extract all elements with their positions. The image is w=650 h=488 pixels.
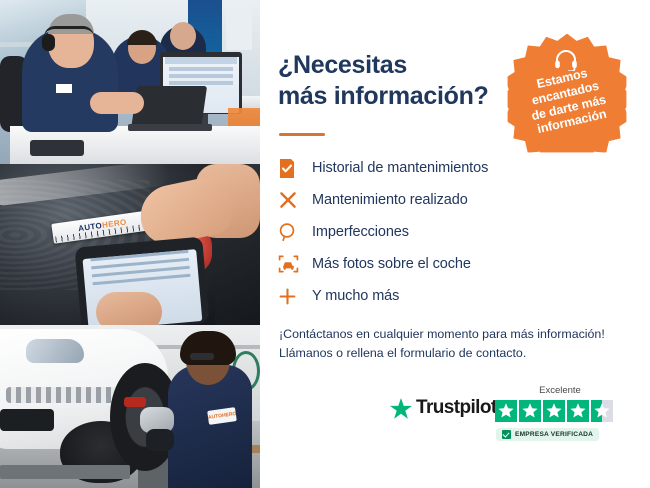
trustpilot-widget[interactable]: Trustpilot Excelente EMPRESA VERIFICADA (390, 385, 612, 447)
hand-tool (124, 397, 146, 407)
feature-item-mas: Y mucho más (278, 280, 638, 312)
star-4 (567, 400, 589, 422)
title-divider (279, 133, 325, 136)
document-check-icon (278, 158, 312, 179)
page-title-line-1: ¿Necesitas (278, 50, 528, 81)
screen-header (165, 57, 237, 64)
safety-glasses (190, 353, 214, 360)
marketing-card: AUTOHERO (0, 0, 650, 488)
star-3 (543, 400, 565, 422)
star-1 (495, 400, 517, 422)
trustpilot-rating-label: Excelente (500, 385, 620, 396)
page-title: ¿Necesitas más información? (278, 50, 528, 111)
feature-item-mantenimiento: Mantenimiento realizado (278, 184, 638, 216)
inspector-hand-2 (96, 292, 162, 325)
wrench-screwdriver-icon (278, 190, 312, 210)
feature-label: Historial de mantenimientos (312, 160, 488, 176)
page-title-line-2: más información? (278, 81, 528, 112)
trustpilot-logo: Trustpilot (390, 397, 497, 419)
feature-label: Imperfecciones (312, 224, 409, 240)
desk-tablet (30, 140, 84, 156)
lower-intake (0, 409, 54, 431)
mechanic-glove-2 (146, 429, 174, 451)
feature-item-fotos: Más fotos sobre el coche (278, 248, 638, 280)
headset-earcup (42, 34, 55, 51)
headlamp (26, 339, 84, 363)
background-person-2-head (170, 22, 196, 50)
contact-text: ¡Contáctanos en cualquier momento para m… (279, 325, 639, 363)
trustpilot-stars (495, 400, 613, 422)
agent-arm (90, 92, 144, 114)
verified-company-badge: EMPRESA VERIFICADA (496, 428, 599, 441)
workshop-wheel-photo: AUTOHERO (0, 325, 260, 488)
screen-row (169, 81, 233, 85)
contact-line-1: ¡Contáctanos en cualquier momento para m… (279, 325, 639, 344)
verified-check-icon (502, 430, 511, 439)
call-center-photo (0, 0, 260, 164)
car-lift (0, 465, 130, 479)
laptop-base (128, 124, 212, 131)
agent-name-tag (56, 84, 72, 93)
verified-label: EMPRESA VERIFICADA (515, 431, 593, 438)
contact-line-2: Llámanos o rellena el formulario de cont… (279, 344, 639, 363)
feature-item-imperfecciones: Imperfecciones (278, 216, 638, 248)
feature-label: Mantenimiento realizado (312, 192, 468, 208)
star-5-half (591, 400, 613, 422)
feature-list: Historial de mantenimientos Mantenimient… (278, 152, 638, 312)
star-2 (519, 400, 541, 422)
screen-row (169, 74, 233, 78)
trustpilot-wordmark: Trustpilot (416, 397, 497, 419)
car-photo-focus-icon (278, 254, 312, 274)
promo-badge: Estamos encantados de darte más informac… (501, 27, 633, 159)
screen-row (169, 67, 233, 71)
magnifier-icon (278, 222, 312, 242)
trustpilot-star-icon (390, 398, 412, 419)
inspection-ruler-photo: AUTOHERO (0, 164, 260, 325)
plus-icon (278, 287, 312, 306)
feature-label: Más fotos sobre el coche (312, 256, 471, 272)
feature-label: Y mucho más (312, 288, 399, 304)
photo-column: AUTOHERO (0, 0, 260, 488)
wall-poster-light (226, 4, 252, 50)
